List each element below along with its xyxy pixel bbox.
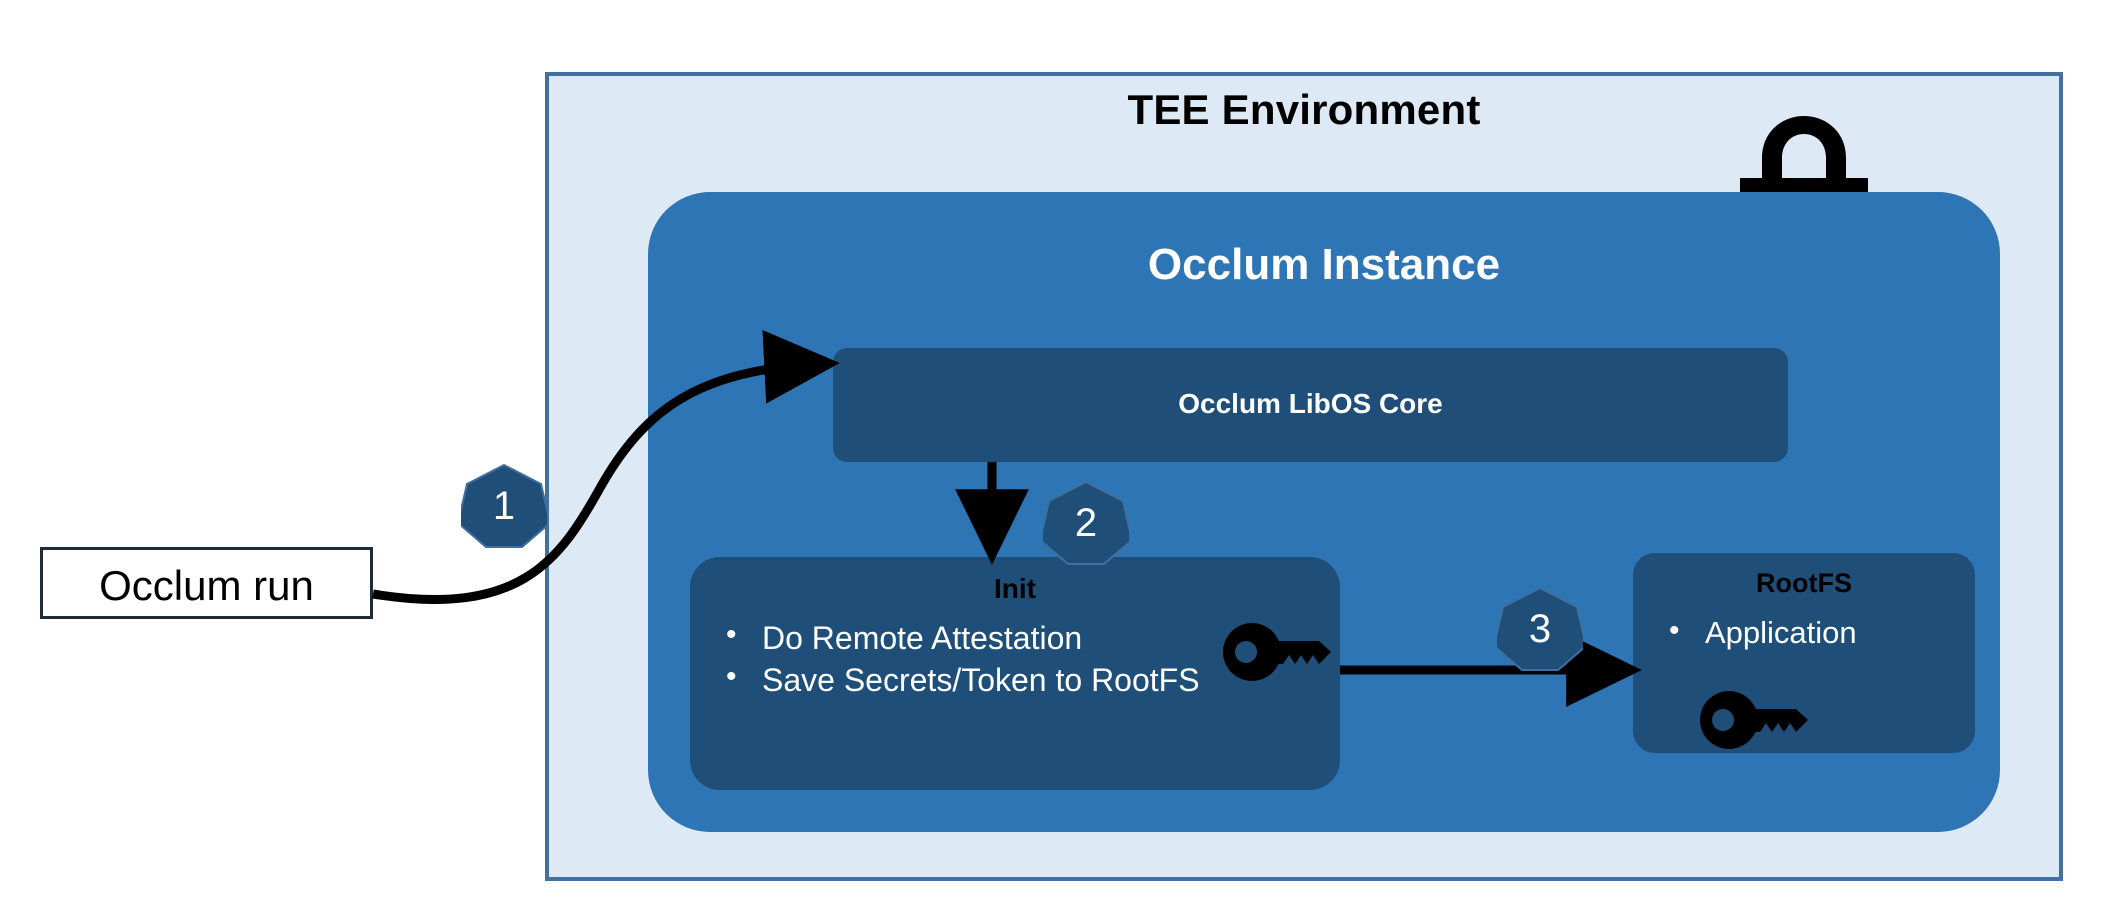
step-badge-2: 2 xyxy=(1043,480,1129,566)
occlum-instance-title: Occlum Instance xyxy=(648,240,2000,290)
step-badge-number: 1 xyxy=(461,463,547,549)
list-item: Do Remote Attestation xyxy=(712,617,1312,659)
list-item: Application xyxy=(1655,613,1965,653)
key-icon xyxy=(1223,622,1335,682)
key-icon xyxy=(1700,690,1812,750)
step-badge-number: 3 xyxy=(1497,586,1583,672)
rootfs-bullet-list: Application xyxy=(1655,613,1965,653)
step-badge-3: 3 xyxy=(1497,586,1583,672)
diagram-canvas: TEE Environment Occlum Instance Occlum L… xyxy=(0,0,2109,920)
init-bullet-list: Do Remote Attestation Save Secrets/Token… xyxy=(712,617,1312,701)
occlum-libos-core-label: Occlum LibOS Core xyxy=(833,388,1788,420)
step-badge-number: 2 xyxy=(1043,480,1129,566)
init-title: Init xyxy=(690,573,1340,605)
rootfs-title: RootFS xyxy=(1633,568,1975,599)
occlum-run-label: Occlum run xyxy=(40,562,373,610)
step-badge-1: 1 xyxy=(461,463,547,549)
list-item: Save Secrets/Token to RootFS xyxy=(712,659,1312,701)
